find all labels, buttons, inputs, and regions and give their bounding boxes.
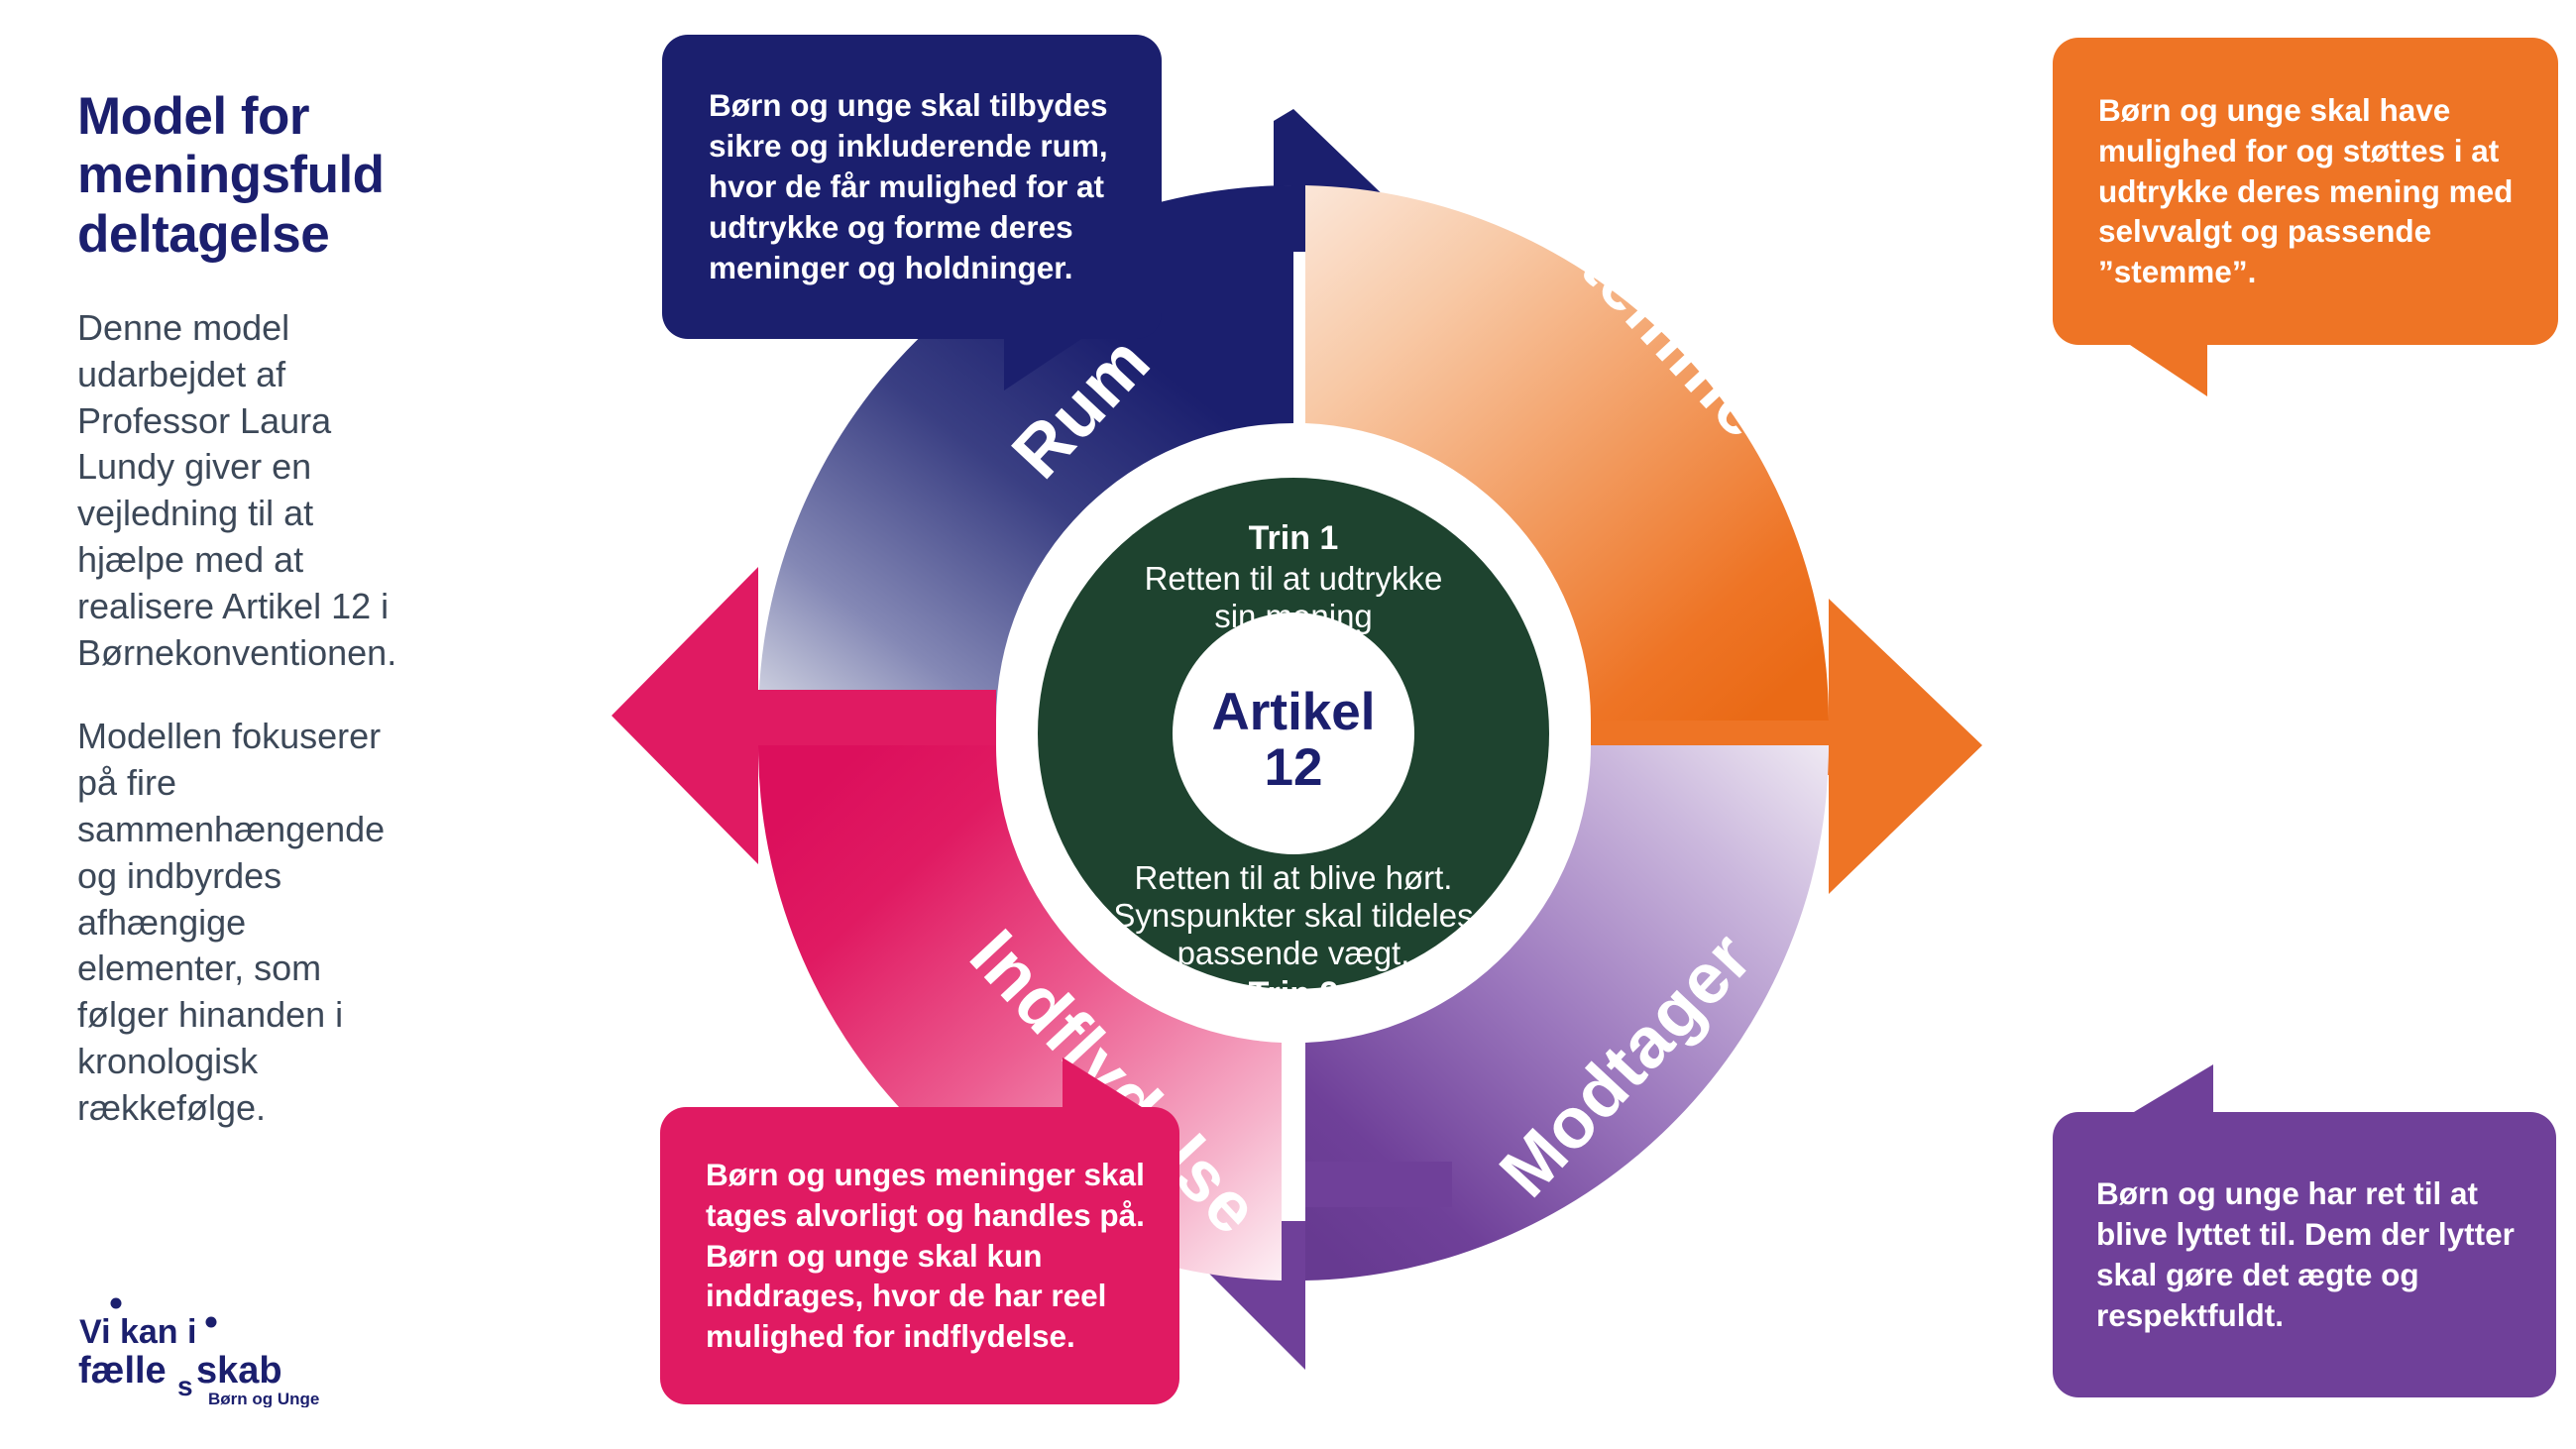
article-line-1: Artikel <box>1212 683 1376 741</box>
callout-modtager-tail <box>2134 1064 2213 1112</box>
article-line-2: 12 <box>1265 738 1323 797</box>
logo: Vi kan i fælle s skab Børn og Unge <box>61 1288 329 1407</box>
trin1-line-2: sin mening <box>1214 598 1373 634</box>
callout-rum-tail <box>1004 339 1081 390</box>
logo-tagline: Børn og Unge <box>208 1390 319 1407</box>
logo-line-2b: s <box>177 1371 193 1401</box>
callout-modtager[interactable]: Børn og unge har ret til at blive lyttet… <box>2053 1112 2556 1397</box>
intro-column: Model for meningsfuld deltagelse Denne m… <box>77 87 404 1170</box>
page-title: Model for meningsfuld deltagelse <box>77 87 404 264</box>
callout-stemme-tail <box>2130 345 2207 396</box>
logo-mark: Vi kan i fælle s skab Børn og Unge <box>61 1288 329 1407</box>
callout-stemme[interactable]: Børn og unge skal have mulighed for og s… <box>2053 38 2558 345</box>
trin2-line-2: Synspunkter skal tildeles <box>1113 897 1473 934</box>
logo-dot-2-icon <box>206 1317 217 1328</box>
logo-dot-icon <box>111 1298 122 1309</box>
trin1-line-1: Retten til at udtrykke <box>1145 560 1443 597</box>
intro-paragraph-1: Denne model udarbejdet af Professor Laur… <box>77 305 404 676</box>
trin1-label: Trin 1 <box>1249 519 1339 557</box>
quadrant-rum-arrow-notch <box>1274 109 1293 186</box>
callout-modtager-text: Børn og unge har ret til at blive lyttet… <box>2096 1173 2522 1336</box>
intro-paragraph-2: Modellen fokuserer på fire sammenhængend… <box>77 714 404 1131</box>
logo-line-2: fælle <box>78 1350 167 1392</box>
trin2-label: Trin 2 <box>1249 975 1339 1013</box>
trin2-line-3: passende vægt. <box>1177 935 1410 971</box>
logo-line-2c: skab <box>196 1350 282 1392</box>
callout-indflydelse[interactable]: Børn og unges meninger skal tages alvorl… <box>660 1107 1179 1404</box>
callout-rum[interactable]: Børn og unge skal tilbydes sikre og inkl… <box>662 35 1162 339</box>
callout-indflydelse-text: Børn og unges meninger skal tages alvorl… <box>706 1155 1146 1358</box>
callout-rum-text: Børn og unge skal tilbydes sikre og inkl… <box>709 85 1122 288</box>
callout-stemme-text: Børn og unge skal have mulighed for og s… <box>2098 90 2519 293</box>
logo-line-1: Vi kan i <box>79 1313 196 1351</box>
trin2-line-1: Retten til at blive hørt. <box>1135 859 1453 896</box>
callout-indflydelse-tail <box>1063 1058 1142 1107</box>
diagram-canvas: Model for meningsfuld deltagelse Denne m… <box>0 0 2576 1449</box>
